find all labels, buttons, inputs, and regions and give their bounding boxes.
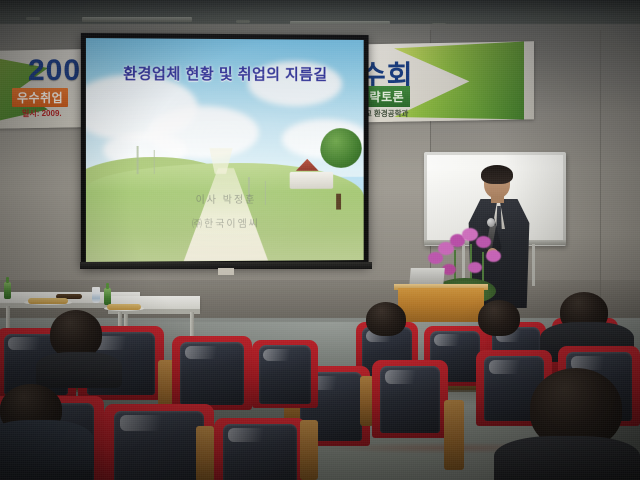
podium xyxy=(398,288,484,322)
ceiling-vent xyxy=(236,20,250,23)
slide-title: 환경업체 현황 및 취업의 지름길 xyxy=(106,62,345,84)
snack-cookies xyxy=(107,304,141,310)
audience-shoulders xyxy=(494,436,640,480)
slide-utility-pole xyxy=(153,150,155,175)
audience-shoulders xyxy=(0,420,94,470)
slide-tree xyxy=(320,128,361,168)
slide-utility-pole xyxy=(137,146,139,175)
lecture-hall-photo: 200 우수취업 일시: 2009. 수회 전략토론 학교 환경공학과 환경업체… xyxy=(0,0,640,480)
beverage-bottle xyxy=(4,282,11,299)
slide-farmhouse xyxy=(290,172,333,189)
audience-head xyxy=(366,302,406,336)
wall-seam xyxy=(600,30,601,320)
screen-pull-tab xyxy=(218,268,234,275)
snack-cookies xyxy=(28,298,68,304)
auditorium-seat xyxy=(372,360,448,438)
auditorium-seat xyxy=(252,340,318,408)
projection-screen: 환경업체 현황 및 취업의 지름길 이사 박정훈 ㈜한국이엠씨 xyxy=(81,33,369,267)
seat-armrest xyxy=(444,400,464,470)
audience-head xyxy=(478,300,520,336)
audience-shoulders xyxy=(36,352,122,388)
beverage-bottle xyxy=(104,288,111,305)
audience-head xyxy=(50,310,102,358)
slide-subtitle-presenter: 이사 박정훈 xyxy=(86,191,364,207)
orchid-flower xyxy=(486,250,501,262)
banner-year-text: 200 xyxy=(28,54,81,88)
presenter-hair xyxy=(481,165,513,184)
seat-armrest xyxy=(300,420,318,480)
paper-cup xyxy=(92,287,100,303)
seat-armrest xyxy=(196,426,214,480)
projected-slide: 환경업체 현황 및 취업의 지름길 이사 박정훈 ㈜한국이엠씨 xyxy=(86,38,364,262)
orchid-flower xyxy=(468,262,482,273)
ceiling-light-fixture xyxy=(82,17,192,22)
whiteboard-stand-leg xyxy=(532,244,535,286)
banner-date-text: 일시: 2009. xyxy=(22,108,62,119)
auditorium-seat xyxy=(214,418,306,480)
auditorium-seat xyxy=(172,336,252,410)
orchid-flower xyxy=(476,236,491,248)
banner-orange-label: 우수취업 xyxy=(12,88,68,107)
ceiling-vent xyxy=(26,17,40,20)
slide-subtitle-company: ㈜한국이엠씨 xyxy=(86,214,364,230)
